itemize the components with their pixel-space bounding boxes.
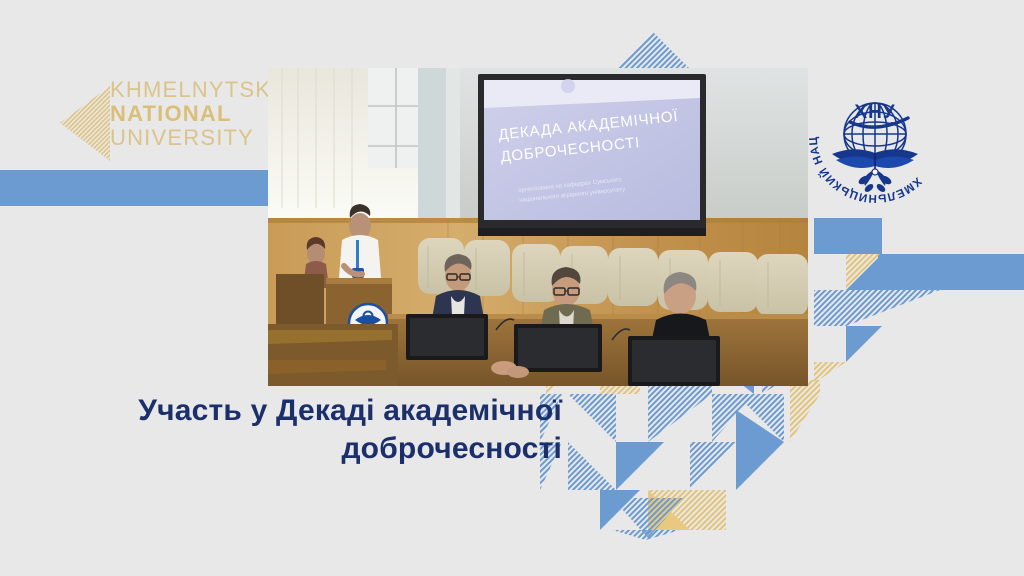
svg-text:ХНУ: ХНУ — [854, 102, 895, 123]
hnu-emblem: ХМЕЛЬНИЦЬКИЙ НАЦІОНАЛЬНИЙ УНІВЕРСИТЕТ ХН… — [800, 62, 950, 212]
page-title: Участь у Декаді академічної доброчесност… — [62, 392, 562, 469]
page-title-line-2: доброчесності — [62, 430, 562, 468]
page-title-line-1: Участь у Декаді академічної — [62, 392, 562, 430]
decorative-triangle-bottom-tail — [612, 498, 684, 538]
conference-hall-photo: ДЕКАДА АКАДЕМІЧНОЇ ДОБРОЧЕСНОСТІ організ… — [268, 68, 808, 386]
blue-bar-left — [0, 170, 268, 206]
left-university-wordmark: KHMELNYTSKYI NATIONAL UNIVERSITY — [60, 78, 290, 168]
slide-canvas: KHMELNYTSKYI NATIONAL UNIVERSITY — [0, 0, 1024, 576]
decorative-triangle-top — [615, 32, 691, 70]
left-chevron-striped-icon — [60, 86, 110, 161]
decorative-triangles-right — [800, 218, 940, 383]
